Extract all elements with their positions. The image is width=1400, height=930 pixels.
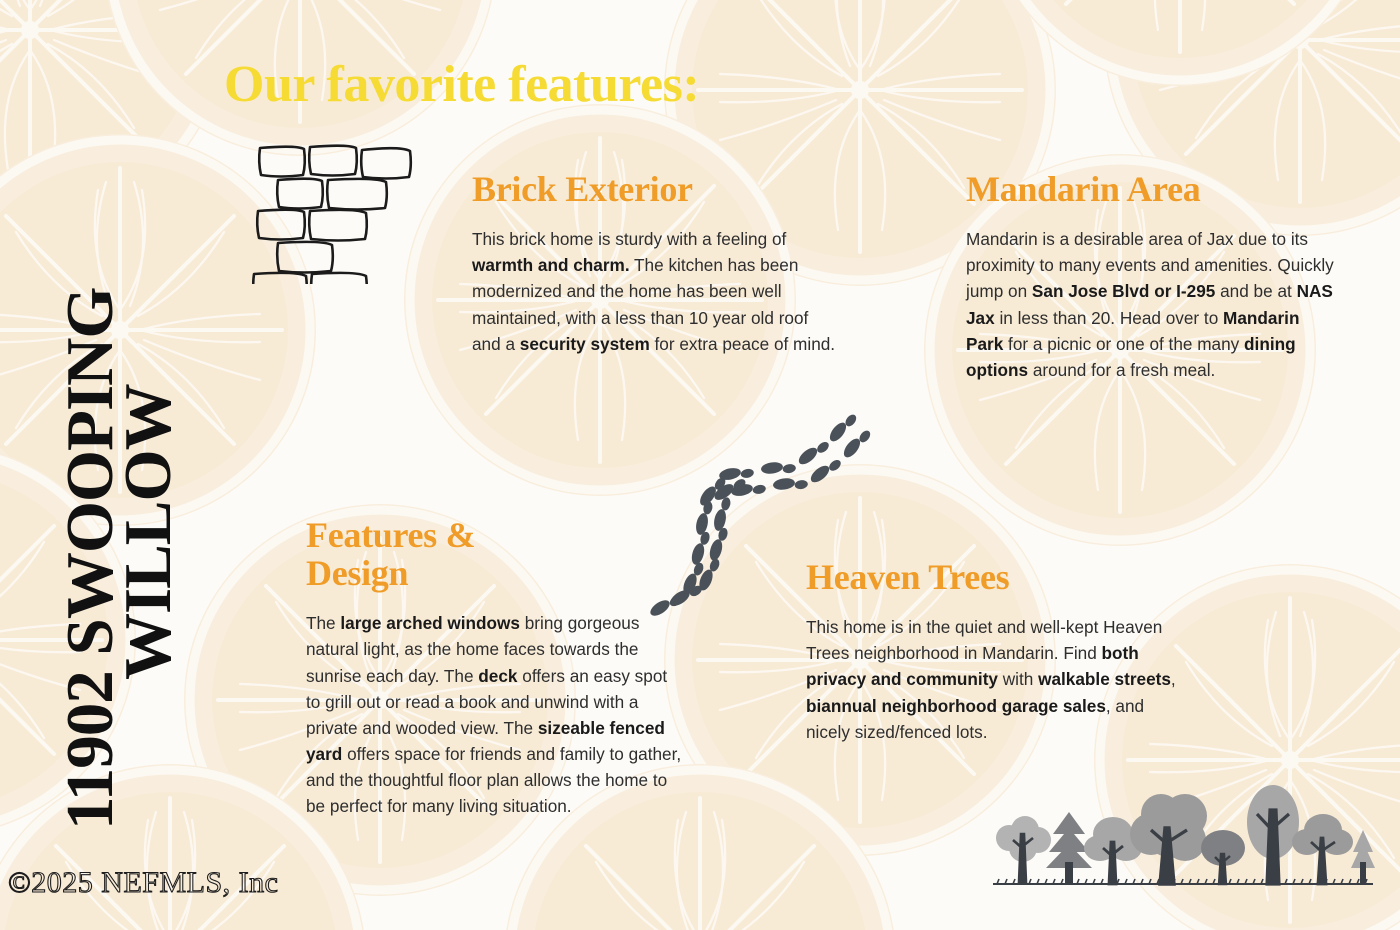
address-line-2: WILLOW: [118, 384, 180, 680]
feature-block-features-design: Features & Design The large arched windo…: [306, 516, 684, 819]
feature-block-brick-exterior: Brick Exterior This brick home is sturdy…: [472, 170, 838, 357]
feature-heading-line-2: Design: [306, 553, 408, 593]
footprints-icon: [648, 408, 888, 628]
feature-heading-brick-exterior: Brick Exterior: [472, 170, 838, 208]
page-title: Our favorite features:: [224, 55, 699, 114]
tree-row-icon: [985, 772, 1375, 900]
real-estate-flyer: 11902 SWOOPING WILLOW Our favorite featu…: [0, 0, 1400, 930]
feature-body-features-design: The large arched windows bring gorgeous …: [306, 610, 684, 819]
feature-body-brick-exterior: This brick home is sturdy with a feeling…: [472, 226, 838, 357]
vertical-address-block: 11902 SWOOPING WILLOW: [0, 0, 230, 930]
feature-heading-mandarin-area: Mandarin Area: [966, 170, 1338, 208]
address-rotated-wrapper: 11902 SWOOPING WILLOW: [30, 110, 210, 830]
feature-block-mandarin-area: Mandarin Area Mandarin is a desirable ar…: [966, 170, 1338, 383]
copyright-watermark: ©2025 NEFMLS, Inc: [8, 866, 278, 900]
brick-wall-icon: [252, 142, 422, 284]
feature-body-mandarin-area: Mandarin is a desirable area of Jax due …: [966, 226, 1338, 383]
feature-heading-features-design: Features & Design: [306, 516, 684, 592]
feature-body-heaven-trees: This home is in the quiet and well-kept …: [806, 614, 1178, 745]
feature-heading-line-1: Features &: [306, 515, 475, 555]
